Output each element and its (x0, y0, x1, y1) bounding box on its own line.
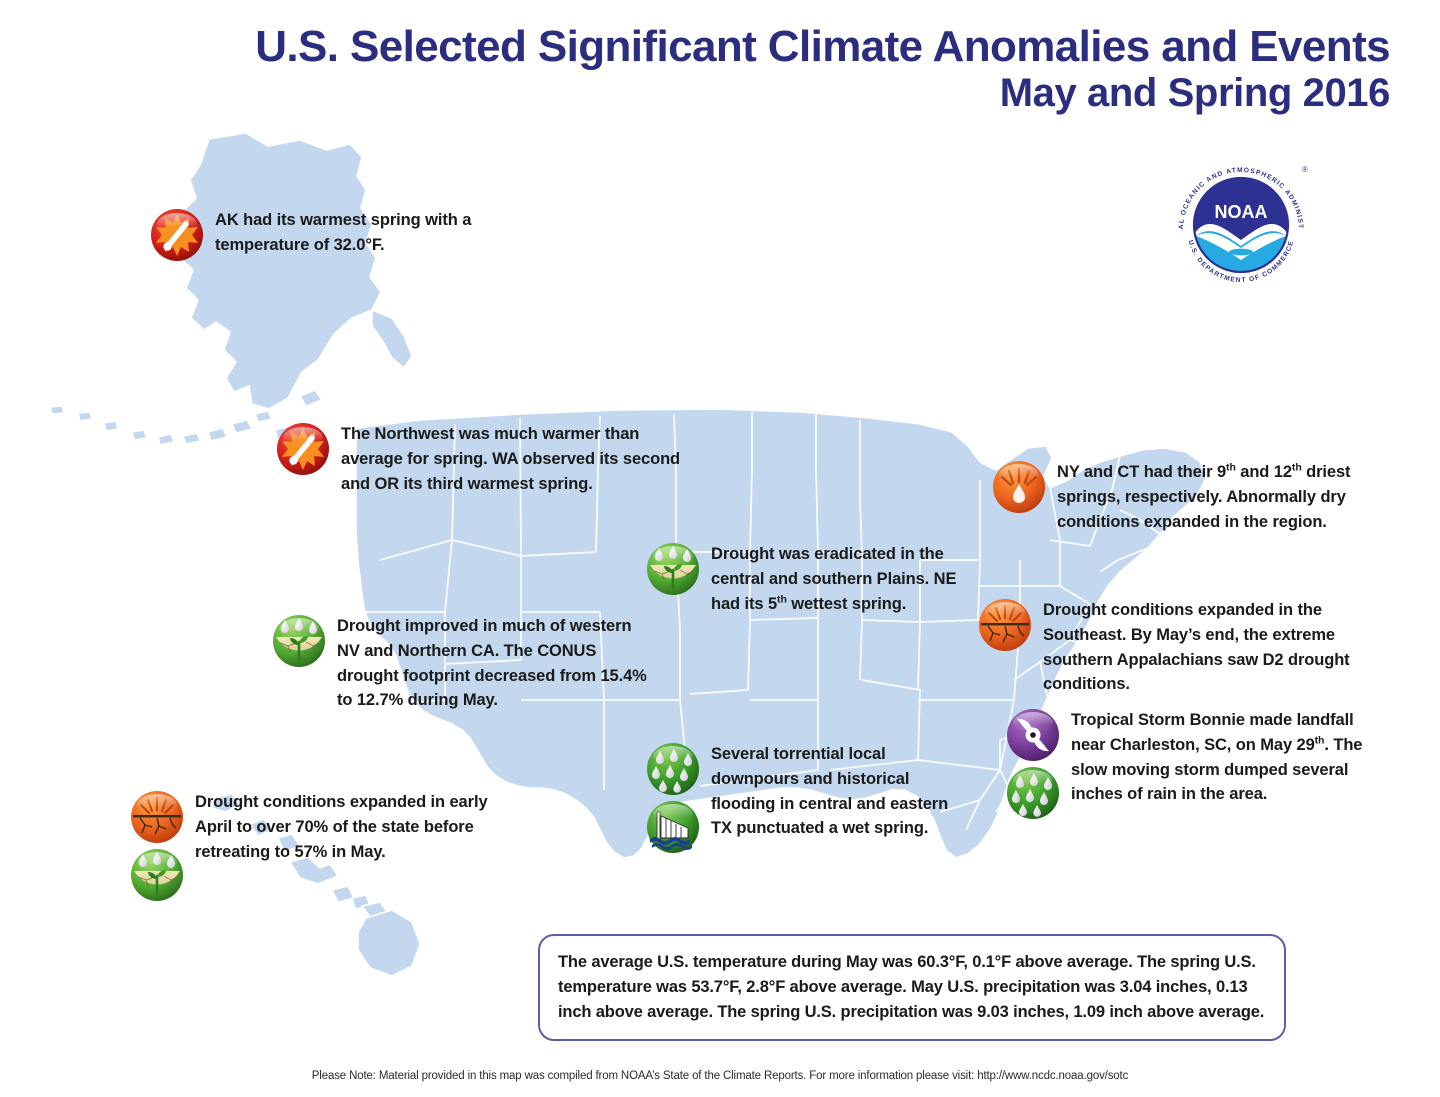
drought-improvement-icon (128, 846, 186, 904)
callout-text: Drought conditions expanded in the South… (1043, 596, 1376, 697)
summary-box: The average U.S. temperature during May … (538, 934, 1286, 1041)
callout-nvca: Drought improved in much of western NV a… (270, 612, 670, 713)
title-line-1: U.S. Selected Significant Climate Anomal… (0, 24, 1390, 71)
callout-alaska: AK had its warmest spring with a tempera… (148, 206, 548, 264)
page-title: U.S. Selected Significant Climate Anomal… (0, 24, 1390, 115)
warm-temperature-icon (274, 420, 332, 478)
callout-text: Drought was eradicated in the central an… (711, 540, 974, 616)
heavy-rain-icon (644, 740, 702, 798)
callout-icons (270, 612, 328, 670)
callout-text: Drought conditions expanded in early Apr… (195, 788, 495, 864)
callout-plains: Drought was eradicated in the central an… (644, 540, 974, 616)
callout-icons (644, 540, 702, 598)
heavy-rain-icon (1004, 764, 1062, 822)
callout-text: NY and CT had their 9th and 12th driest … (1057, 458, 1357, 534)
callout-text: The Northwest was much warmer than avera… (341, 420, 701, 496)
callout-southeast: Drought conditions expanded in the South… (976, 596, 1376, 697)
callout-icons (148, 206, 206, 264)
drought-improvement-icon (644, 540, 702, 598)
noaa-logo: NOAA NATIONAL OCEANIC AND ATMOSPHERIC AD… (1166, 148, 1316, 298)
callout-icons (128, 788, 186, 904)
callout-northwest: The Northwest was much warmer than avera… (274, 420, 704, 496)
dryness-icon (990, 458, 1048, 516)
summary-text: The average U.S. temperature during May … (558, 950, 1268, 1025)
callout-icons (990, 458, 1048, 516)
callout-icons (274, 420, 332, 478)
callout-text: Several torrential local downpours and h… (711, 740, 973, 841)
noaa-wordmark: NOAA (1215, 202, 1268, 222)
callout-hawaii: Drought conditions expanded in early Apr… (128, 788, 518, 904)
title-line-2: May and Spring 2016 (0, 71, 1390, 116)
callout-bonnie: Tropical Storm Bonnie made landfall near… (1004, 706, 1374, 822)
registered-mark-icon: ® (1302, 165, 1308, 174)
callout-nyct: NY and CT had their 9th and 12th driest … (990, 458, 1360, 534)
footer-note: Please Note: Material provided in this m… (0, 1070, 1440, 1082)
callout-texas: Several torrential local downpours and h… (644, 740, 974, 856)
flooding-icon (644, 798, 702, 856)
callout-icons (1004, 706, 1062, 822)
drought-icon (128, 788, 186, 846)
drought-improvement-icon (270, 612, 328, 670)
callout-text: AK had its warmest spring with a tempera… (215, 206, 515, 258)
callout-icons (644, 740, 702, 856)
drought-icon (976, 596, 1034, 654)
callout-icons (976, 596, 1034, 654)
callout-text: Drought improved in much of western NV a… (337, 612, 657, 713)
warm-temperature-icon (148, 206, 206, 264)
callout-text: Tropical Storm Bonnie made landfall near… (1071, 706, 1371, 807)
hurricane-icon (1004, 706, 1062, 764)
